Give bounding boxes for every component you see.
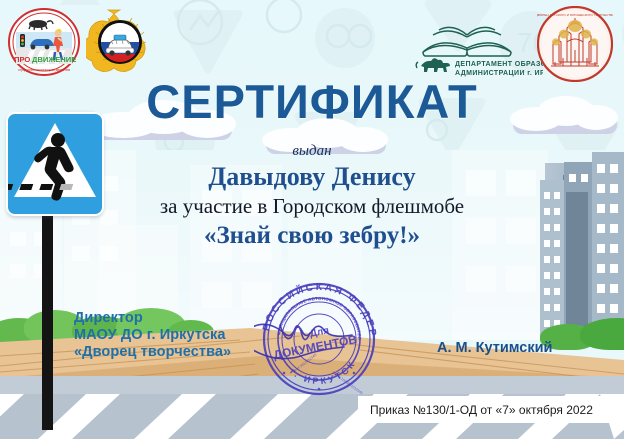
awarded-label: выдан [0, 143, 624, 160]
svg-text:ДВИЖЕНИЕ: ДВИЖЕНИЕ [32, 55, 76, 64]
director-role-line2: МАОУ ДО г. Иркутска [74, 327, 231, 344]
signature-role-block: Директор МАОУ ДО г. Иркутска «Дворец тво… [74, 310, 231, 361]
certificate-canvas: 70 [0, 0, 624, 439]
certificate-title: СЕРТИФИКАТ [0, 78, 624, 125]
event-name: «Знай свою зебру!» [0, 222, 624, 250]
svg-text:ДВОРЕЦ ДЕТСКОГО И ЮНОШЕСКОГО Т: ДВОРЕЦ ДЕТСКОГО И ЮНОШЕСКОГО ТВОРЧЕСТВА [537, 13, 613, 17]
svg-text:ПРО: ПРО [14, 55, 30, 64]
ghost-window [466, 266, 496, 292]
recipient-name: Давыдову Денису [0, 162, 624, 192]
award-reason: за участие в Городском флешмобе [0, 194, 624, 219]
prodvizhenie-emblem: ПРО ДВИЖЕНИЕ отряд юных инспекторов движ… [8, 8, 80, 76]
department-line1: ДЕПАРТАМЕНТ ОБРАЗОВАНИЯ [455, 61, 543, 68]
ghost-window [10, 264, 26, 278]
ghost-window [506, 266, 536, 292]
irkutsk-cathedral-emblem: ДВОРЕЦ ДЕТСКОГО И ЮНОШЕСКОГО ТВОРЧЕСТВА [537, 6, 613, 82]
director-role-line1: Директор [74, 310, 231, 327]
official-round-stamp: РОССИЙСКАЯ ФЕДЕРАЦИЯ г. ИРКУТСК МУНИЦИПА… [254, 277, 384, 402]
order-reference-text: Приказ №130/1-ОД от «7» октября 2022 [358, 403, 593, 417]
signer-name: А. М. Кутимский [437, 340, 552, 356]
director-role-line3: «Дворец творчества» [74, 344, 231, 361]
svg-text:отряд юных инспекторов движени: отряд юных инспекторов движения [18, 68, 70, 72]
ghost-window [202, 282, 232, 308]
gibdd-emblem [86, 8, 154, 76]
order-reference-box: Приказ №130/1-ОД от «7» октября 2022 [358, 396, 616, 423]
department-of-education-logo: ДЕПАРТАМЕНТ ОБРАЗОВАНИЯ АДМИНИСТРАЦИИ г.… [415, 22, 543, 78]
